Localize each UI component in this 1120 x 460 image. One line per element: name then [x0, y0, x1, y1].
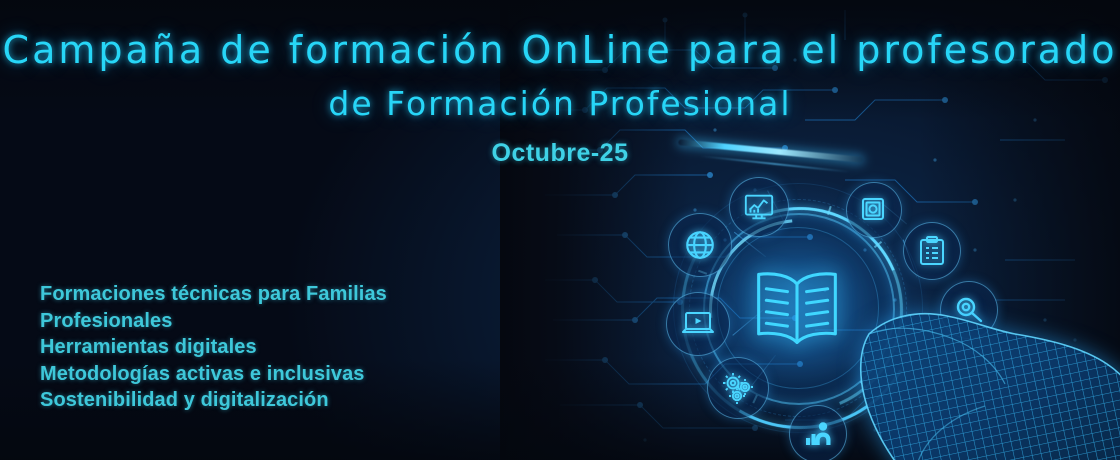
- title-block: Campaña de formación OnLine para el prof…: [0, 0, 1120, 168]
- page-title-line-2: de Formación Profesional: [0, 84, 1120, 123]
- node-globe[interactable]: [668, 213, 732, 277]
- globe-icon: [683, 228, 717, 262]
- campaign-banner: Campaña de formación OnLine para el prof…: [0, 0, 1120, 460]
- user-analytics-icon: [803, 419, 833, 449]
- page-title-line-1: Campaña de formación OnLine para el prof…: [0, 28, 1120, 72]
- node-analytics[interactable]: [789, 405, 847, 460]
- node-video[interactable]: [666, 292, 730, 356]
- presentation-chart-icon: [743, 192, 775, 222]
- list-item: Metodologías activas e inclusivas: [40, 361, 387, 388]
- node-presentation[interactable]: [729, 177, 789, 237]
- node-settings[interactable]: [707, 357, 769, 419]
- list-item: Sostenibilidad y digitalización: [40, 387, 387, 414]
- list-item: Profesionales: [40, 308, 387, 335]
- wireframe-hand-pointing: [855, 272, 1120, 460]
- laptop-video-icon: [681, 309, 715, 339]
- gears-icon: [721, 372, 755, 404]
- open-book-icon: [749, 261, 845, 353]
- node-photo[interactable]: [846, 182, 902, 238]
- highlights-list: Formaciones técnicas para FamiliasProfes…: [40, 281, 387, 414]
- clipboard-list-icon: [918, 236, 946, 266]
- list-item: Formaciones técnicas para Familias: [40, 281, 387, 308]
- subtitle-date: Octubre-25: [0, 139, 1120, 168]
- photo-icon: [860, 196, 888, 224]
- list-item: Herramientas digitales: [40, 334, 387, 361]
